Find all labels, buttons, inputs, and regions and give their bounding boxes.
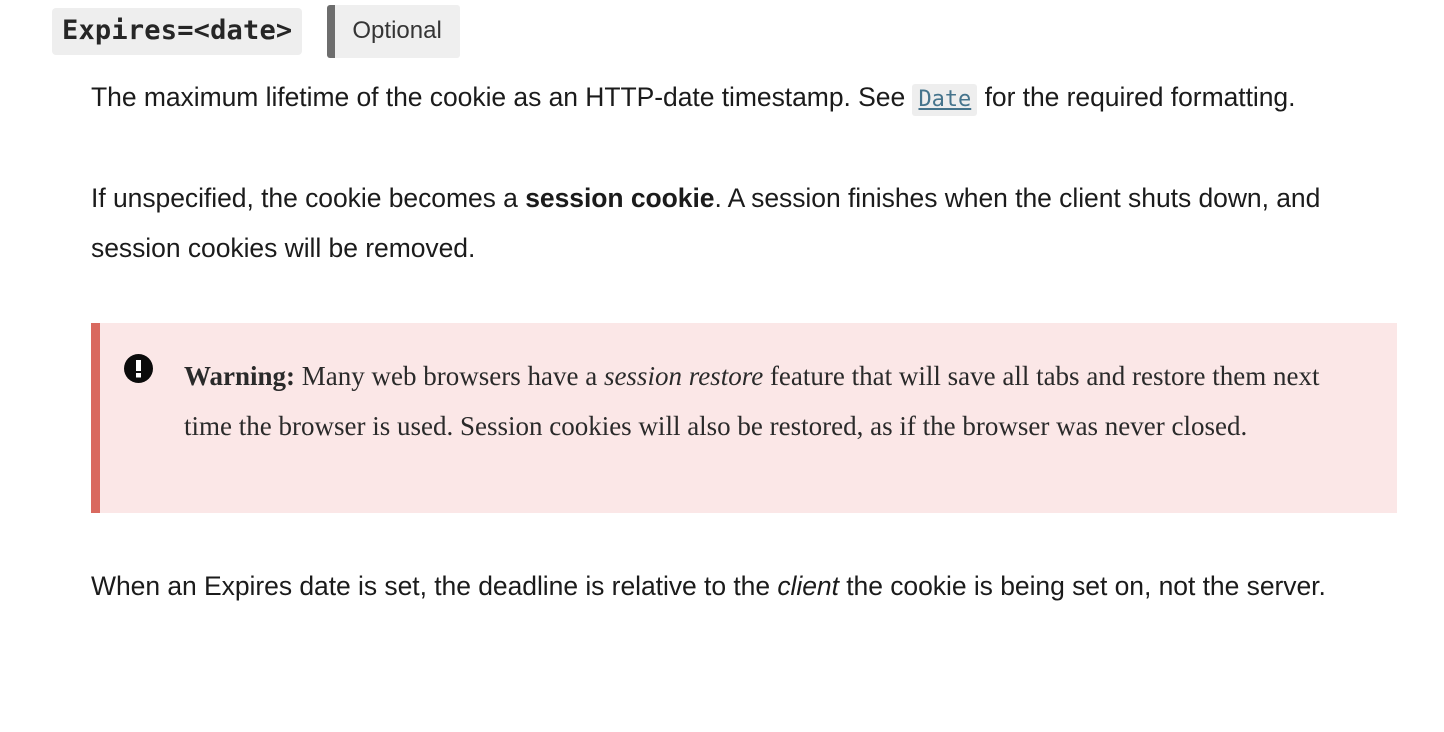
optional-badge: Optional xyxy=(327,5,459,58)
directive-code-chip: Expires=<date> xyxy=(52,8,302,55)
exclamation-circle-icon xyxy=(124,354,153,383)
warning-callout-text: Warning: Many web browsers have a sessio… xyxy=(126,351,1367,451)
date-link[interactable]: Date xyxy=(912,84,977,116)
paragraph-session-text-1: If unspecified, the cookie becomes a xyxy=(91,183,525,213)
session-restore-emphasis: session restore xyxy=(604,361,763,391)
optional-badge-label: Optional xyxy=(352,19,441,43)
warning-callout-wrapper: Warning: Many web browsers have a sessio… xyxy=(0,323,1444,513)
warning-callout: Warning: Many web browsers have a sessio… xyxy=(91,323,1397,513)
paragraph-expires-text-2: the cookie is being set on, not the serv… xyxy=(839,571,1326,601)
paragraph-session-cookie: If unspecified, the cookie becomes a ses… xyxy=(91,173,1398,273)
warning-label: Warning: xyxy=(184,361,295,391)
bottom-spacer xyxy=(0,611,1444,621)
paragraph-expires-client: When an Expires date is set, the deadlin… xyxy=(91,561,1398,611)
client-emphasis: client xyxy=(777,571,839,601)
paragraph-lifetime: The maximum lifetime of the cookie as an… xyxy=(91,72,1398,125)
paragraph-expires-text-1: When an Expires date is set, the deadlin… xyxy=(91,571,777,601)
documentation-page: Expires=<date> Optional The maximum life… xyxy=(0,0,1444,732)
paragraph-lifetime-text-2: for the required formatting. xyxy=(977,82,1295,112)
session-cookie-emphasis: session cookie xyxy=(525,183,714,213)
prose-container-bottom: When an Expires date is set, the deadlin… xyxy=(0,561,1444,611)
warning-text-1: Many web browsers have a xyxy=(295,361,604,391)
prose-container: The maximum lifetime of the cookie as an… xyxy=(0,72,1444,273)
term-header-row: Expires=<date> Optional xyxy=(0,0,1444,62)
paragraph-lifetime-text-1: The maximum lifetime of the cookie as an… xyxy=(91,82,912,112)
